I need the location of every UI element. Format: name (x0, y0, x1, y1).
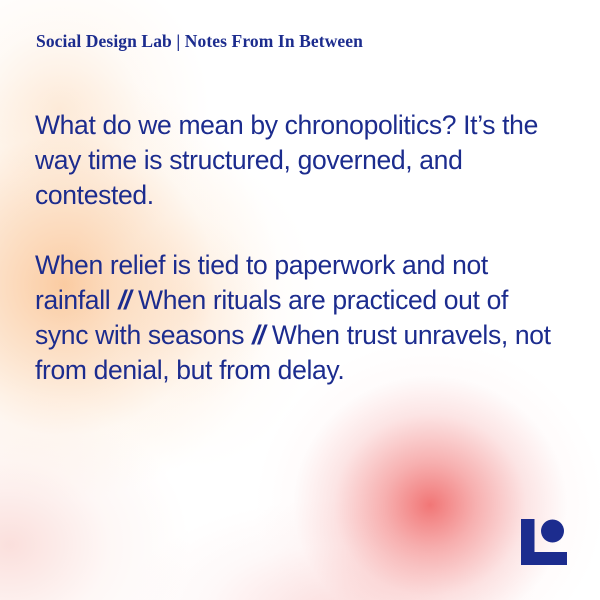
slash-separator-1: // (117, 285, 131, 315)
series-kicker: Social Design Lab | Notes From In Betwee… (36, 31, 363, 52)
slash-separator-2: // (251, 320, 265, 350)
l-dot-logo-icon (521, 519, 567, 565)
paragraph-two: When relief is tied to paperwork and not… (35, 248, 565, 388)
brand-logo (521, 519, 567, 565)
card-content: Social Design Lab | Notes From In Betwee… (0, 0, 600, 600)
social-post-card: Social Design Lab | Notes From In Betwee… (0, 0, 600, 600)
body-copy: What do we mean by chronopolitics? It’s … (35, 108, 565, 388)
paragraph-one: What do we mean by chronopolitics? It’s … (35, 108, 565, 213)
